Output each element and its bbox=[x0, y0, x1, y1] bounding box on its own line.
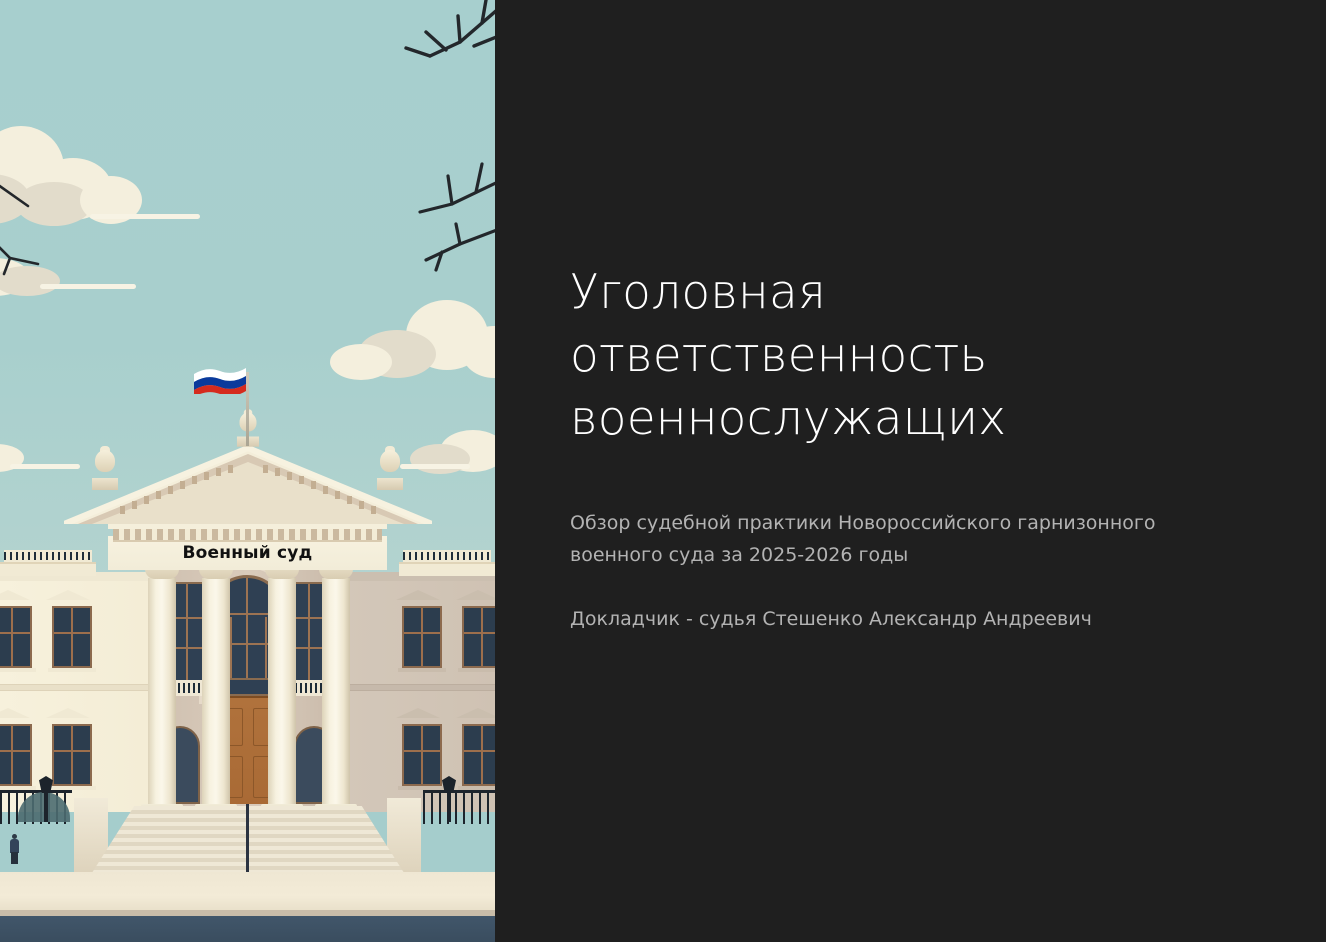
courthouse-illustration: Военный суд bbox=[0, 0, 495, 942]
corinthian-column bbox=[202, 578, 230, 806]
roof-railing bbox=[4, 550, 92, 562]
title-text-panel: Уголовная ответственность военнослужащих… bbox=[495, 0, 1326, 942]
presenter-line: Докладчик - судья Стешенко Александр Анд… bbox=[570, 604, 1256, 634]
flagpole bbox=[246, 372, 249, 446]
slide-title: Уголовная ответственность военнослужащих bbox=[570, 262, 1090, 451]
roof-finial bbox=[92, 446, 118, 490]
roofline bbox=[0, 562, 96, 576]
courthouse-building: Военный суд bbox=[0, 512, 495, 942]
roof-railing bbox=[403, 550, 491, 562]
plaza-pavement bbox=[0, 872, 495, 912]
corinthian-column bbox=[268, 578, 296, 806]
title-slide: Военный суд bbox=[0, 0, 1326, 942]
russian-flag-icon bbox=[194, 364, 246, 394]
roof-finial bbox=[377, 446, 403, 490]
dentil-molding bbox=[113, 529, 382, 542]
bare-branch-icon bbox=[390, 120, 495, 300]
plaza-flagpole bbox=[246, 804, 249, 876]
iron-fence bbox=[423, 790, 495, 824]
corinthian-column bbox=[322, 578, 350, 806]
road bbox=[0, 916, 495, 942]
corinthian-column bbox=[148, 578, 176, 806]
bare-branch-icon bbox=[0, 176, 54, 286]
street-lamp-icon bbox=[441, 776, 457, 822]
pedestrian-figure bbox=[10, 834, 19, 864]
slide-subtitle: Обзор судебной практики Новороссийского … bbox=[570, 507, 1210, 572]
building-sign-label: Военный суд bbox=[183, 543, 313, 563]
street-lamp-icon bbox=[38, 776, 54, 822]
roofline bbox=[399, 562, 495, 576]
